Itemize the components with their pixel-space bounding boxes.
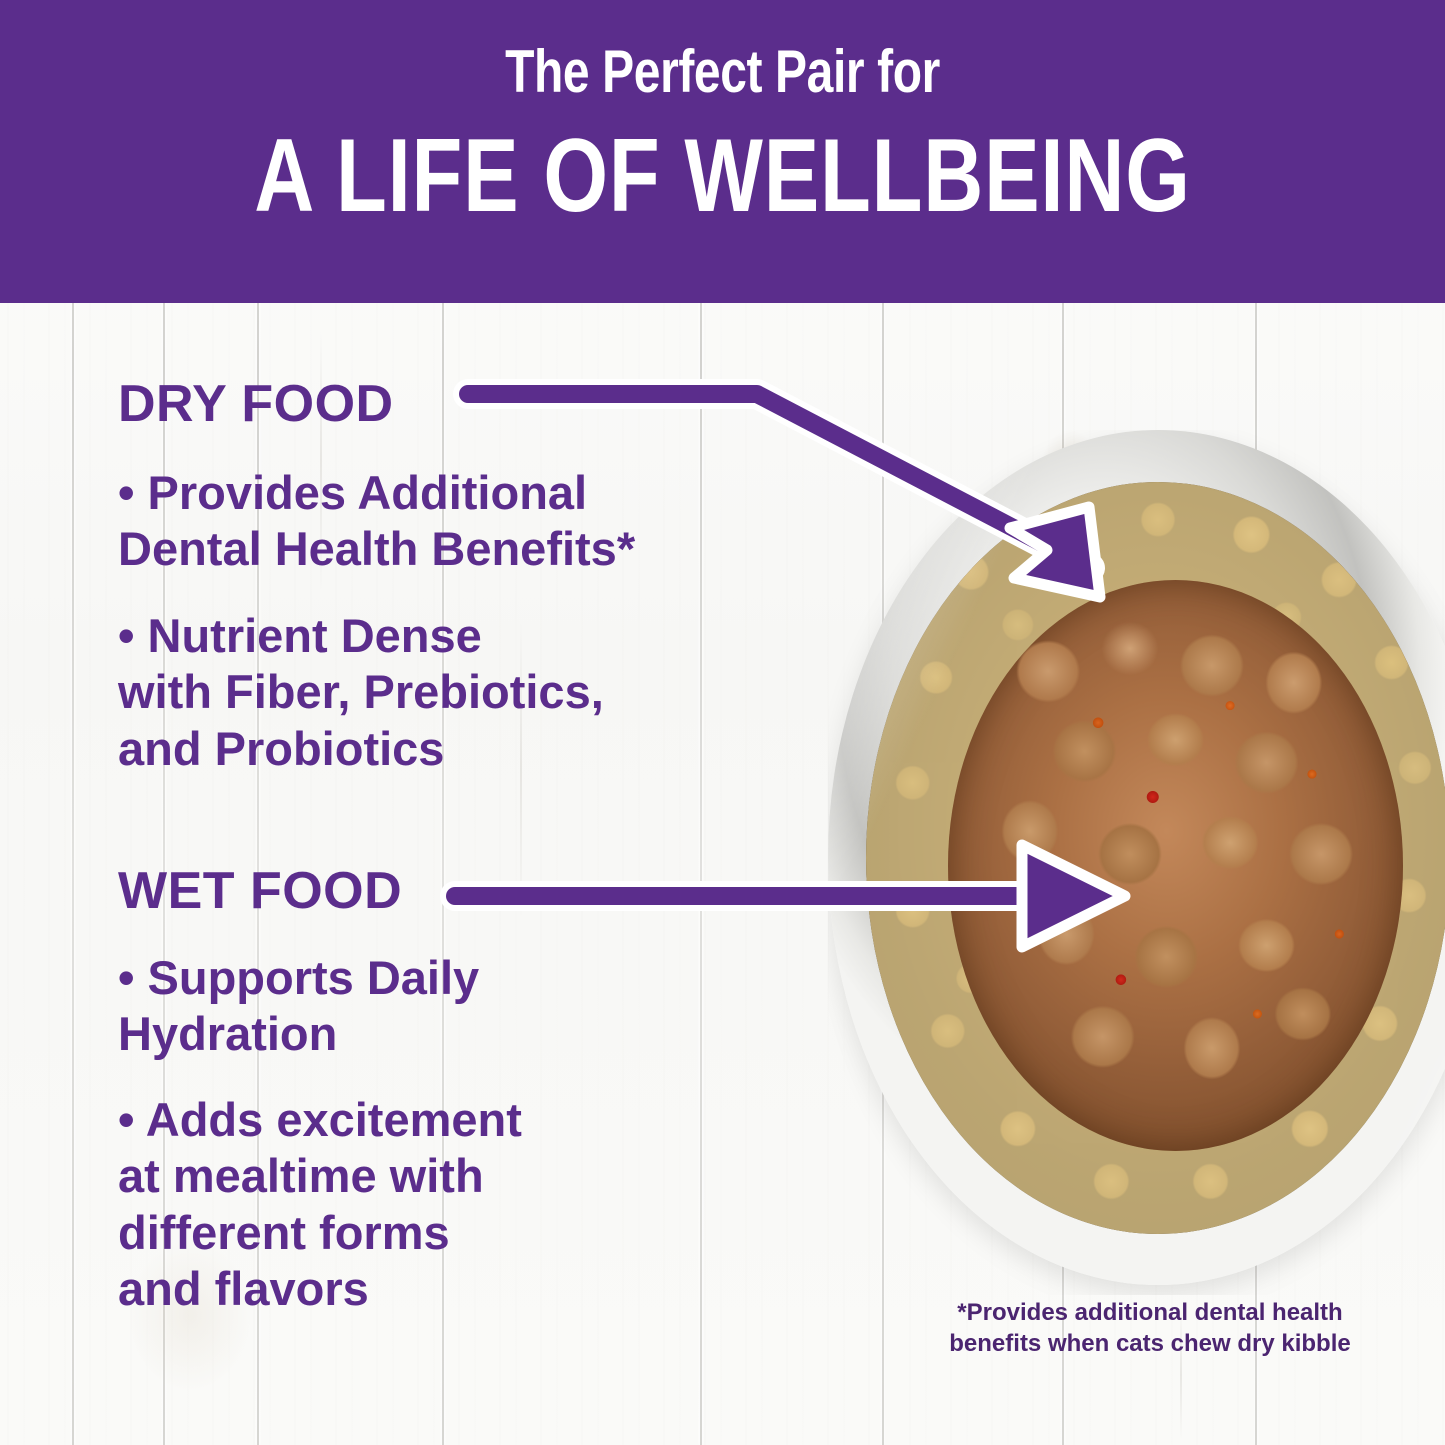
header-title: A LIFE OF WELLBEING bbox=[145, 124, 1301, 228]
bullet-line: • Adds excitement bbox=[118, 1092, 758, 1148]
bullet-line: and Probiotics bbox=[118, 721, 758, 777]
bullet-line: different forms bbox=[118, 1205, 758, 1261]
bullet-line: with Fiber, Prebiotics, bbox=[118, 664, 758, 720]
bullet-line: Dental Health Benefits* bbox=[118, 521, 758, 577]
dry-food-bullet-2: • Nutrient Dense with Fiber, Prebiotics,… bbox=[118, 608, 758, 777]
wet-food-title: WET FOOD bbox=[118, 865, 758, 917]
wet-food-gravy bbox=[948, 580, 1404, 1152]
section-dry-food: DRY FOOD bbox=[118, 378, 758, 430]
dry-food-bullet-1: • Provides Additional Dental Health Bene… bbox=[118, 465, 758, 578]
footnote-line-1: *Provides additional dental health bbox=[930, 1298, 1370, 1329]
bullet-line: Hydration bbox=[118, 1006, 758, 1062]
bullet-line: and flavors bbox=[118, 1261, 758, 1317]
pet-food-bowl-photo bbox=[828, 430, 1445, 1295]
bullet-line: • Provides Additional bbox=[118, 465, 758, 521]
bullet-line: at mealtime with bbox=[118, 1148, 758, 1204]
header-banner: The Perfect Pair for A LIFE OF WELLBEING bbox=[0, 0, 1445, 303]
gravy-vegetable-bits bbox=[948, 580, 1404, 1152]
wet-food-bullet-2: • Adds excitement at mealtime with diffe… bbox=[118, 1092, 758, 1318]
promo-infographic: The Perfect Pair for A LIFE OF WELLBEING bbox=[0, 0, 1445, 1445]
header-subtitle: The Perfect Pair for bbox=[145, 42, 1301, 102]
wet-food-bullet-1: • Supports Daily Hydration bbox=[118, 950, 758, 1063]
section-wet-food: WET FOOD bbox=[118, 865, 758, 917]
dry-food-title: DRY FOOD bbox=[118, 378, 758, 430]
bullet-line: • Supports Daily bbox=[118, 950, 758, 1006]
bullet-line: • Nutrient Dense bbox=[118, 608, 758, 664]
footnote: *Provides additional dental health benef… bbox=[930, 1298, 1370, 1359]
bowl-interior bbox=[866, 482, 1445, 1234]
footnote-line-2: benefits when cats chew dry kibble bbox=[930, 1329, 1370, 1360]
